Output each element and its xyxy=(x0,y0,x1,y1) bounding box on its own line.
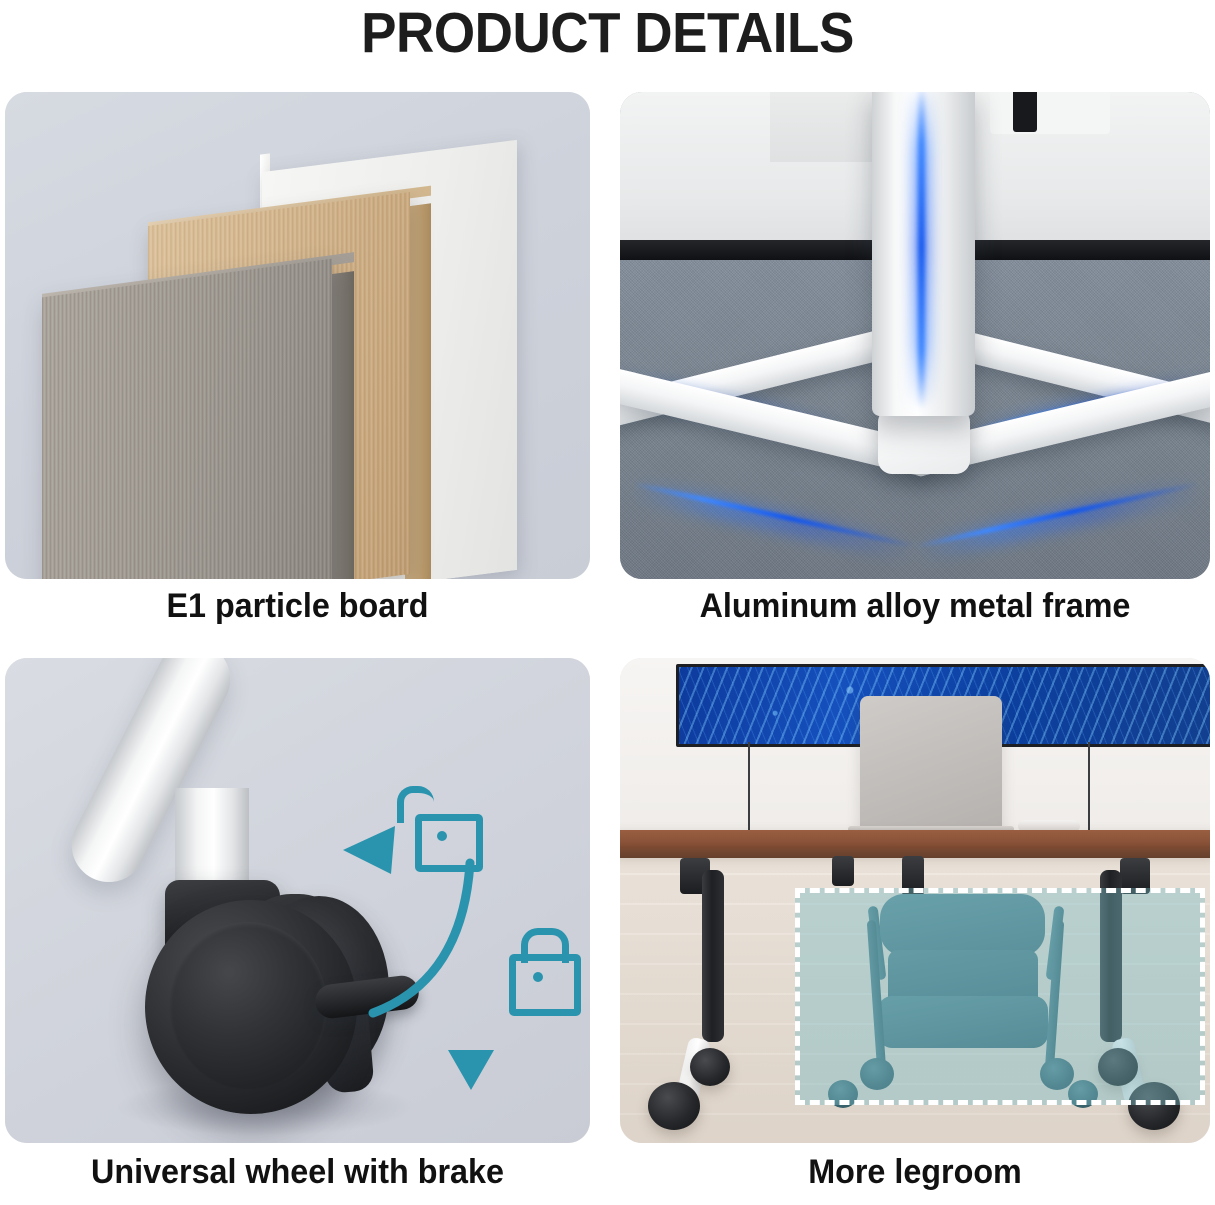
panel-legroom[interactable] xyxy=(620,658,1210,1143)
wheel-hub-inner xyxy=(169,922,327,1090)
caption-metal-frame: Aluminum alloy metal frame xyxy=(635,586,1196,626)
laptop xyxy=(860,696,1002,832)
board-gray-face xyxy=(42,259,332,579)
table-post-left xyxy=(702,870,724,1042)
caption-particle-board: E1 particle board xyxy=(20,586,576,626)
table-caster-left xyxy=(648,1082,700,1130)
table-caster-left-rear xyxy=(690,1048,730,1086)
lock-open-icon xyxy=(395,786,469,860)
metal-frame-image xyxy=(620,92,1210,579)
page-title: PRODUCT DETAILS xyxy=(43,2,1173,64)
wall-object-right xyxy=(990,92,1110,134)
desk-bracket-mid-left xyxy=(832,856,854,886)
particle-board-image xyxy=(5,92,590,579)
panel-caster-wheel[interactable] xyxy=(5,658,590,1143)
cable-right xyxy=(1088,742,1090,834)
panel-metal-frame[interactable] xyxy=(620,92,1210,579)
caption-caster-wheel: Universal wheel with brake xyxy=(20,1152,576,1192)
legroom-dashed-outline xyxy=(795,888,1205,1105)
panel-particle-board[interactable] xyxy=(5,92,590,579)
lock-closed-icon xyxy=(505,928,579,1008)
caption-legroom: More legroom xyxy=(635,1152,1196,1192)
wall-black-detail xyxy=(1013,92,1037,132)
cable-left xyxy=(748,742,750,834)
frame-hub-joint xyxy=(878,408,970,474)
column-glow-line xyxy=(918,92,925,408)
legroom-image xyxy=(620,658,1210,1143)
caster-wheel-image xyxy=(5,658,590,1143)
